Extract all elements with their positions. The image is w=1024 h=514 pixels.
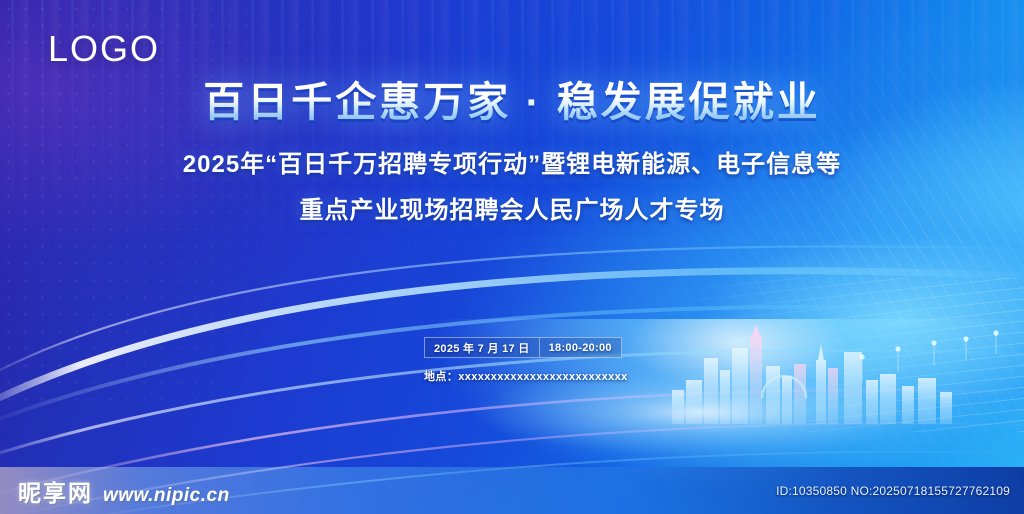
watermark-bar: 昵享网 www.nipic.cn ID:10350850 NO:20250718… xyxy=(0,467,1024,514)
event-info-block: 2025 年 7 月 17 日 18:00-20:00 地点：xxxxxxxxx… xyxy=(424,337,628,384)
date-time-badge: 2025 年 7 月 17 日 18:00-20:00 xyxy=(424,337,622,358)
watermark-site-name: 昵享网 xyxy=(18,474,93,508)
title-block: 百日千企惠万家 · 稳发展促就业 2025年“百日千万招聘专项行动”暨锂电新能源… xyxy=(0,80,1024,225)
city-skyline-icon xyxy=(666,318,1006,426)
event-time: 18:00-20:00 xyxy=(539,338,621,357)
watermark-site-url: www.nipic.cn xyxy=(103,485,230,507)
subtitle-line-1: 2025年“百日千万招聘专项行动”暨锂电新能源、电子信息等 xyxy=(0,144,1024,179)
diagonal-lines-icon xyxy=(553,0,1024,473)
event-location: 地点：xxxxxxxxxxxxxxxxxxxxxxxxxx xyxy=(424,368,628,384)
subtitle-line-2: 重点产业现场招聘会人民广场人才专场 xyxy=(0,190,1024,225)
watermark-id-text: ID:10350850 NO:20250718155727762109 xyxy=(776,484,1010,498)
horizontal-grid-icon xyxy=(614,278,1024,432)
event-date: 2025 年 7 月 17 日 xyxy=(425,338,539,357)
logo-text: LOGO xyxy=(48,28,160,70)
poster-canvas: LOGO 百日千企惠万家 · 稳发展促就业 2025年“百日千万招聘专项行动”暨… xyxy=(0,0,1024,514)
watermark-brand: 昵享网 www.nipic.cn xyxy=(18,474,230,508)
page-title: 百日千企惠万家 · 稳发展促就业 xyxy=(203,80,820,126)
